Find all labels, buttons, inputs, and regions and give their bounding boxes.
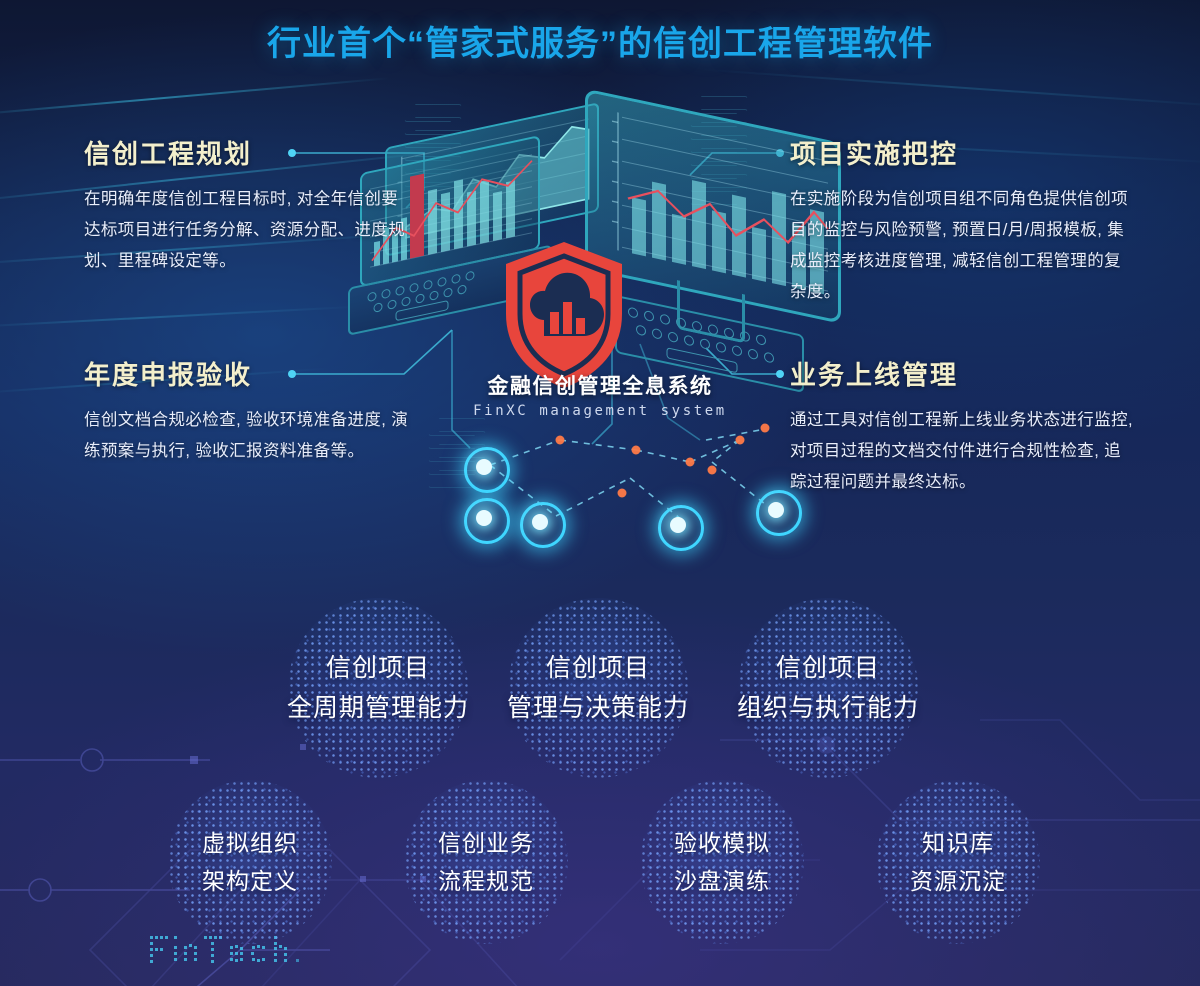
network-node [520, 502, 566, 548]
capability-sphere-sandbox: 验收模拟 沙盘演练 [640, 780, 804, 944]
capability-sphere-knowledge: 知识库 资源沉淀 [876, 780, 1040, 944]
feature-body: 在实施阶段为信创项目组不同角色提供信创项目的监控与风险预警, 预置日/月/周报模… [790, 184, 1135, 308]
infographic-canvas: 行业首个“管家式服务”的信创工程管理软件 [0, 0, 1200, 986]
network-node [464, 498, 510, 544]
sphere-label: 信创业务 流程规范 [438, 824, 534, 900]
feature-body: 在明确年度信创工程目标时, 对全年信创要达标项目进行任务分解、资源分配、进度规划… [84, 184, 414, 277]
feature-block-planning: 信创工程规划 在明确年度信创工程目标时, 对全年信创要达标项目进行任务分解、资源… [84, 134, 414, 277]
feature-heading: 项目实施把控 [790, 134, 1135, 171]
sphere-label: 信创项目 管理与决策能力 [507, 648, 689, 728]
feature-block-online: 业务上线管理 通过工具对信创工程新上线业务状态进行监控, 对项目过程的文档交付件… [790, 355, 1135, 498]
network-node [658, 505, 704, 551]
feature-heading: 业务上线管理 [790, 355, 1135, 392]
sphere-label: 知识库 资源沉淀 [910, 824, 1006, 900]
capability-sphere-execution: 信创项目 组织与执行能力 [738, 598, 918, 778]
capability-sphere-decision: 信创项目 管理与决策能力 [508, 598, 688, 778]
capability-sphere-lifecycle: 信创项目 全周期管理能力 [288, 598, 468, 778]
feature-body: 信创文档合规必检查, 验收环境准备进度, 演练预案与执行, 验收汇报资料准备等。 [84, 405, 414, 467]
connection-endpoints [556, 424, 770, 498]
sphere-label: 信创项目 组织与执行能力 [737, 648, 919, 728]
feature-body: 通过工具对信创工程新上线业务状态进行监控, 对项目过程的文档交付件进行合规性检查… [790, 405, 1135, 498]
feature-block-implementation: 项目实施把控 在实施阶段为信创项目组不同角色提供信创项目的监控与风险预警, 预置… [790, 134, 1135, 308]
network-node [464, 447, 510, 493]
sphere-label: 虚拟组织 架构定义 [202, 824, 298, 900]
cloud-bar-chart-shield-icon [500, 240, 628, 390]
capability-sphere-virtual-org: 虚拟组织 架构定义 [168, 780, 332, 944]
feature-heading: 年度申报验收 [84, 355, 414, 392]
sphere-label: 信创项目 全周期管理能力 [287, 648, 469, 728]
sphere-label: 验收模拟 沙盘演练 [674, 824, 770, 900]
capability-sphere-process: 信创业务 流程规范 [404, 780, 568, 944]
feature-block-acceptance: 年度申报验收 信创文档合规必检查, 验收环境准备进度, 演练预案与执行, 验收汇… [84, 355, 414, 467]
page-title: 行业首个“管家式服务”的信创工程管理软件 [0, 16, 1200, 65]
feature-heading: 信创工程规划 [84, 134, 414, 171]
